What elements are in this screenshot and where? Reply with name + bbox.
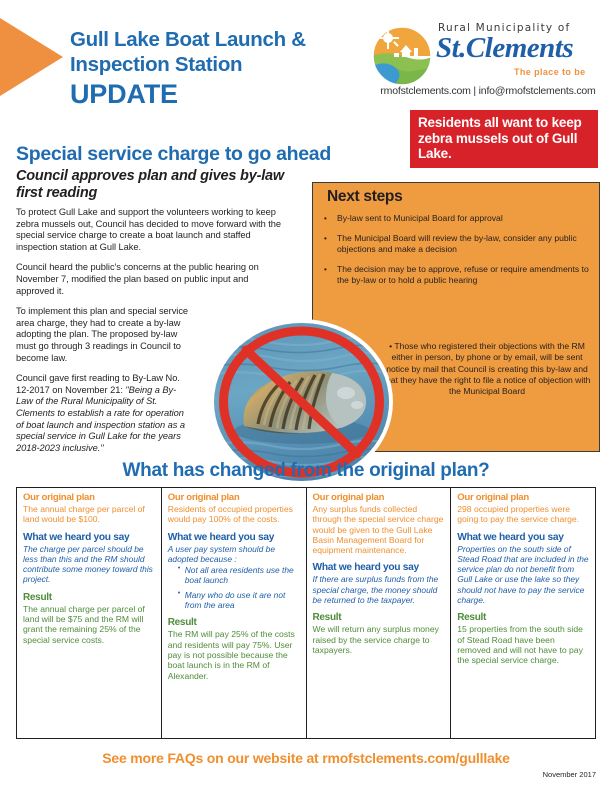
table-column: Our original plan Residents of occupied … (162, 488, 307, 738)
update-label: UPDATE (70, 79, 178, 110)
result-text: 15 properties from the south side of Ste… (457, 624, 589, 665)
table-column: Our original plan The annual charge per … (17, 488, 162, 738)
list-item-label: By-law sent to Municipal Board for appro… (337, 213, 592, 224)
orange-triangle-icon (0, 18, 63, 96)
heard-body: If there are surplus funds from the spec… (313, 574, 439, 605)
heard-label: What we heard you say (313, 562, 445, 573)
paragraph: To implement this plan and special servi… (16, 306, 191, 364)
red-callout-banner: Residents all want to keep zebra mussels… (410, 110, 598, 168)
section-title: Special service charge to go ahead (16, 143, 331, 166)
original-plan-text: The annual charge per parcel of land wou… (23, 504, 155, 525)
heard-label: What we heard you say (168, 532, 300, 543)
list-item-label: The decision may be to approve, refuse o… (337, 264, 592, 286)
result-text: The annual charge per parcel of land wil… (23, 604, 155, 645)
heard-text: Properties on the south side of Stead Ro… (457, 544, 589, 606)
list-item: Many who do use it are not from the area (178, 590, 300, 611)
heard-body: The charge per parcel should be less tha… (23, 544, 153, 585)
result-text: The RM will pay 25% of the costs and res… (168, 629, 300, 680)
heard-label: What we heard you say (457, 532, 589, 543)
list-item: • The Municipal Board will review the by… (324, 233, 592, 255)
original-plan-text: Residents of occupied properties would p… (168, 504, 300, 525)
result-label: Result (168, 617, 300, 628)
municipality-logo: Rural Municipality of St.Clements The pl… (372, 20, 604, 100)
st-clements-crest-icon (372, 26, 432, 86)
bullet-icon: • (389, 341, 392, 351)
page-title: Gull Lake Boat Launch & Inspection Stati… (70, 27, 370, 77)
bullet-icon: • (324, 213, 337, 224)
result-label: Result (457, 612, 589, 623)
heard-text: If there are surplus funds from the spec… (313, 574, 445, 605)
next-steps-list: • By-law sent to Municipal Board for app… (324, 213, 592, 295)
list-item: Not all area residents use the boat laun… (178, 565, 300, 586)
heard-bullet-list: Not all area residents use the boat laun… (168, 565, 300, 610)
original-plan-label: Our original plan (313, 492, 445, 503)
original-plan-text: Any surplus funds collected through the … (313, 504, 445, 555)
section-subtitle: Council approves plan and gives by-law f… (16, 168, 296, 202)
heard-body: A user pay system should be adopted beca… (168, 544, 275, 564)
contact-line[interactable]: rmofstclements.com | info@rmofstclements… (372, 85, 604, 97)
logo-tagline: The place to be (514, 67, 586, 77)
paragraph: Council heard the public's concerns at t… (16, 262, 289, 297)
comparison-table: Our original plan The annual charge per … (16, 487, 596, 739)
next-steps-note-label: Those who registered their objections wi… (384, 341, 591, 396)
result-label: Result (23, 592, 155, 603)
logo-name: St.Clements (436, 32, 573, 65)
result-text: We will return any surplus money raised … (313, 624, 445, 655)
next-steps-title: Next steps (327, 188, 402, 206)
original-plan-label: Our original plan (168, 492, 300, 503)
list-item-label: The Municipal Board will review the by-l… (337, 233, 592, 255)
zebra-mussel-image (214, 323, 389, 481)
faq-link[interactable]: See more FAQs on our website at rmofstcl… (0, 750, 612, 766)
heard-text: The charge per parcel should be less tha… (23, 544, 155, 585)
original-plan-label: Our original plan (457, 492, 589, 503)
flyer-page: Gull Lake Boat Launch & Inspection Stati… (0, 0, 612, 792)
original-plan-text: 298 occupied properties were going to pa… (457, 504, 589, 525)
table-column: Our original plan 298 occupied propertie… (451, 488, 595, 738)
table-column: Our original plan Any surplus funds coll… (307, 488, 452, 738)
heard-label: What we heard you say (23, 532, 155, 543)
publication-date: November 2017 (543, 770, 596, 779)
next-steps-note: • Those who registered their objections … (382, 341, 592, 397)
list-item: • The decision may be to approve, refuse… (324, 264, 592, 286)
bullet-icon: • (324, 233, 337, 255)
original-plan-label: Our original plan (23, 492, 155, 503)
list-item: • By-law sent to Municipal Board for app… (324, 213, 592, 224)
heard-text: A user pay system should be adopted beca… (168, 544, 300, 611)
bullet-icon: • (324, 264, 337, 286)
changed-heading: What has changed from the original plan? (0, 460, 612, 482)
paragraph: To protect Gull Lake and support the vol… (16, 207, 289, 253)
heard-body: Properties on the south side of Stead Ro… (457, 544, 588, 605)
bylaw-paragraph: Council gave first reading to By-Law No.… (16, 373, 191, 454)
result-label: Result (313, 612, 445, 623)
